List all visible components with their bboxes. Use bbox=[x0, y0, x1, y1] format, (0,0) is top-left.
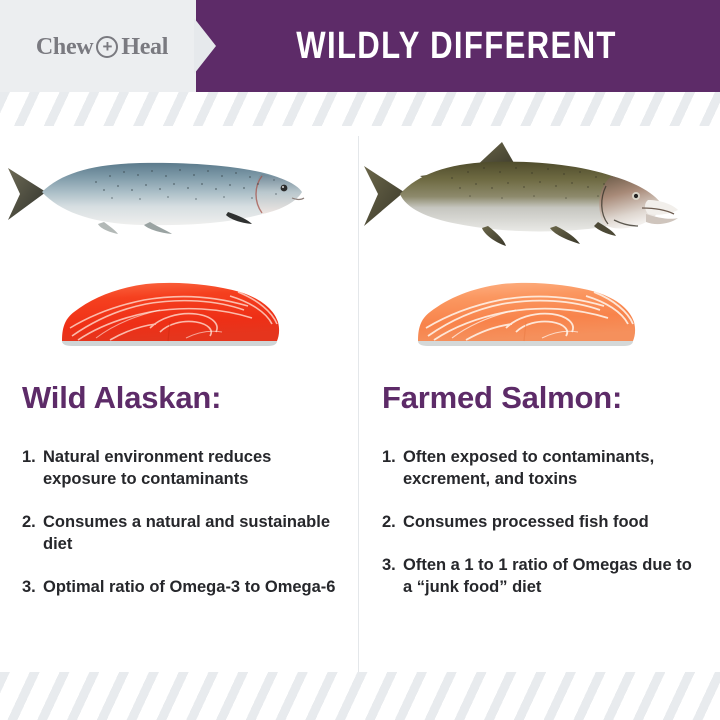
list-item-text: Consumes a natural and sustainable diet bbox=[43, 511, 342, 555]
column-divider bbox=[358, 136, 359, 674]
list-item-text: Optimal ratio of Omega-3 to Omega-6 bbox=[43, 576, 342, 598]
benefits-list-wild-alaskan: 1. Natural environment reduces exposure … bbox=[22, 446, 342, 620]
list-item-number: 3. bbox=[22, 576, 43, 598]
brand-logo: Chew + Heal bbox=[22, 30, 182, 64]
drawbacks-list-farmed-salmon: 1. Often exposed to contaminants, excrem… bbox=[382, 446, 702, 620]
list-item-number: 1. bbox=[22, 446, 43, 490]
wild-alaskan-salmon-fillet-photo bbox=[0, 262, 358, 358]
decorative-stripes-top bbox=[0, 92, 720, 126]
list-item-text: Consumes processed fish food bbox=[403, 511, 702, 533]
header-chevron-notch bbox=[176, 0, 216, 92]
infographic-page: { "brand": { "logo_text_left": "Chew", "… bbox=[0, 0, 720, 720]
list-item-number: 2. bbox=[22, 511, 43, 555]
list-item-number: 1. bbox=[382, 446, 403, 490]
list-item: 2. Consumes processed fish food bbox=[382, 511, 702, 533]
column-heading-wild-alaskan: Wild Alaskan: bbox=[22, 380, 221, 416]
list-item: 1. Natural environment reduces exposure … bbox=[22, 446, 342, 490]
chevron-right-icon bbox=[194, 18, 216, 74]
list-item-text: Often exposed to contaminants, excrement… bbox=[403, 446, 702, 490]
list-item-number: 3. bbox=[382, 554, 403, 598]
column-farmed-salmon: Farmed Salmon: 1. Often exposed to conta… bbox=[360, 126, 718, 672]
list-item: 1. Often exposed to contaminants, excrem… bbox=[382, 446, 702, 490]
farmed-salmon-fillet-photo bbox=[360, 262, 718, 358]
list-item-number: 2. bbox=[382, 511, 403, 533]
plus-icon: + bbox=[96, 36, 118, 58]
list-item-text: Natural environment reduces exposure to … bbox=[43, 446, 342, 490]
farmed-salmon-photo bbox=[360, 130, 718, 255]
brand-logo-text-right: Heal bbox=[121, 34, 168, 61]
column-heading-farmed-salmon: Farmed Salmon: bbox=[382, 380, 622, 416]
list-item: 3. Optimal ratio of Omega-3 to Omega-6 bbox=[22, 576, 342, 598]
wild-alaskan-salmon-photo bbox=[0, 130, 358, 255]
list-item: 3. Often a 1 to 1 ratio of Omegas due to… bbox=[382, 554, 702, 598]
list-item-text: Often a 1 to 1 ratio of Omegas due to a … bbox=[403, 554, 702, 598]
page-header: Chew + Heal WILDLY DIFFERENT bbox=[0, 0, 720, 92]
brand-logo-text-left: Chew bbox=[36, 34, 93, 61]
decorative-stripes-bottom bbox=[0, 672, 720, 720]
column-wild-alaskan: Wild Alaskan: 1. Natural environment red… bbox=[0, 126, 358, 672]
comparison-content: Wild Alaskan: 1. Natural environment red… bbox=[0, 126, 720, 672]
page-title: WILDLY DIFFERENT bbox=[240, 0, 672, 92]
list-item: 2. Consumes a natural and sustainable di… bbox=[22, 511, 342, 555]
